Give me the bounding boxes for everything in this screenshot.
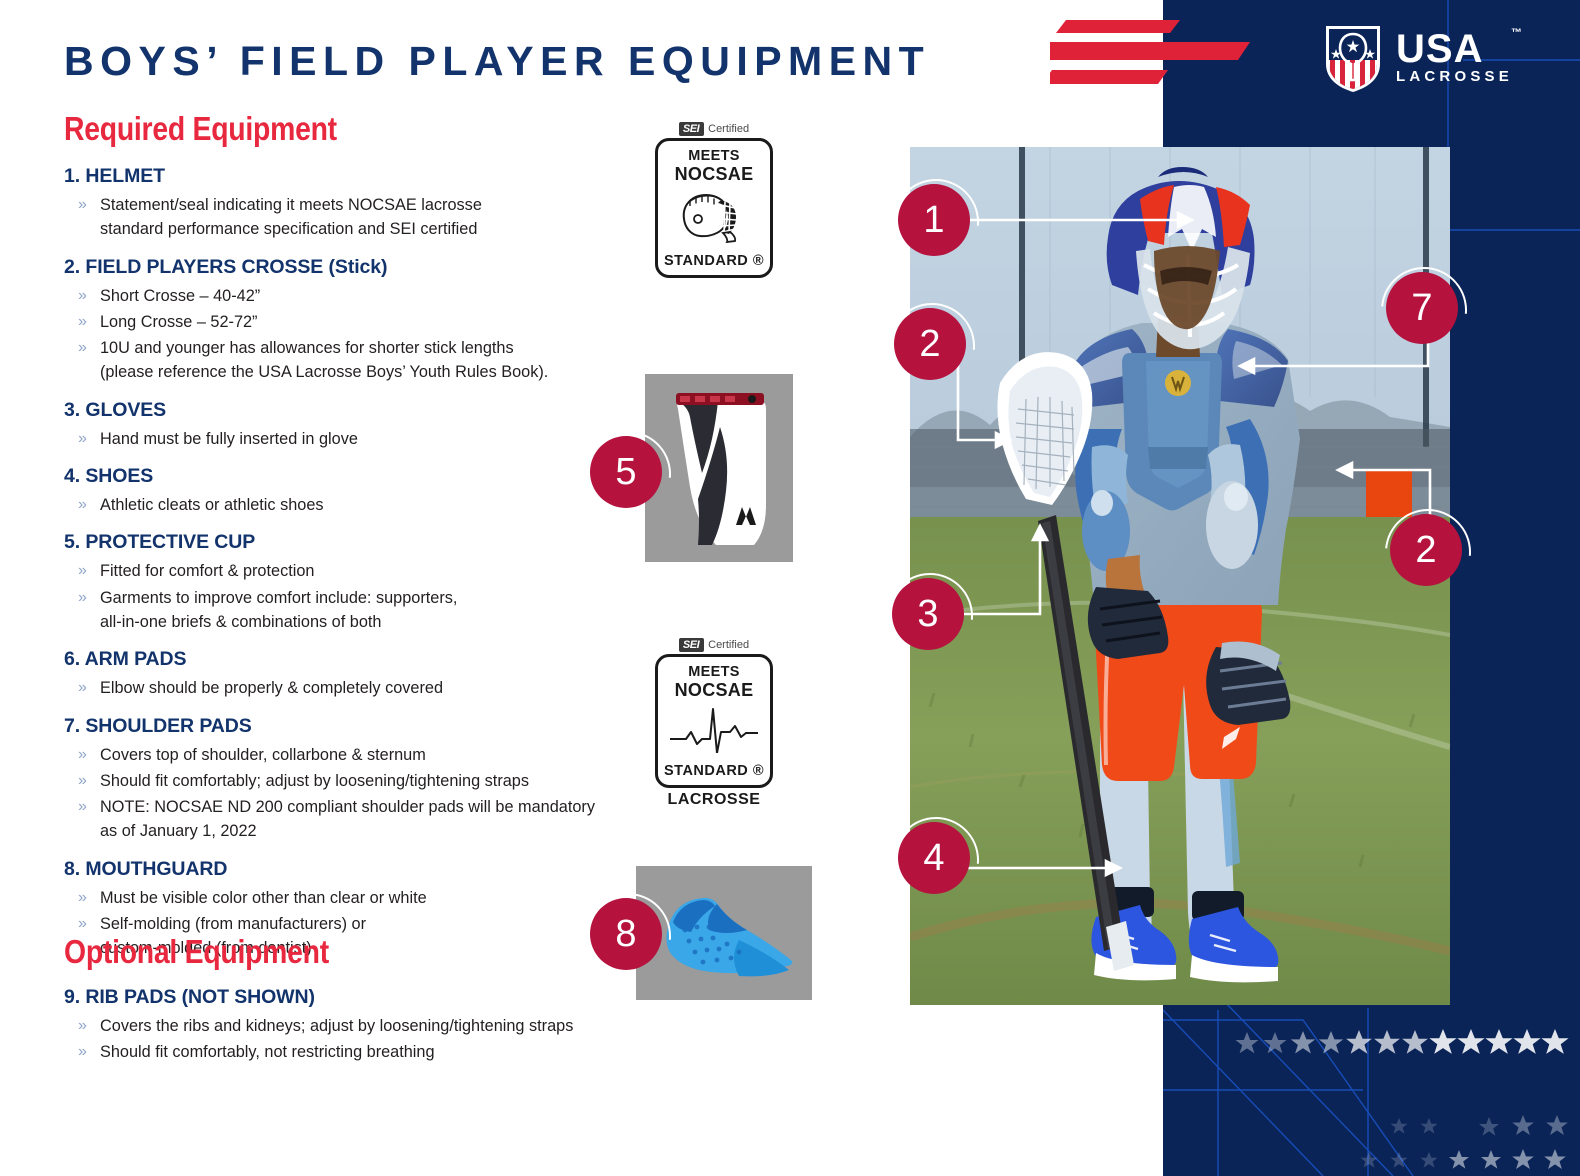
double-chevron-icon: » bbox=[78, 886, 87, 910]
seal-ekg-icon bbox=[668, 705, 760, 758]
equipment-bullet-list: »Short Crosse – 40-42”»Long Crosse – 52-… bbox=[64, 284, 644, 385]
optional-equipment-heading: Optional Equipment bbox=[64, 933, 329, 971]
equipment-bullet: »NOTE: NOCSAE ND 200 compliant shoulder … bbox=[100, 795, 644, 844]
bullet-text: Self-molding (from manufacturers) or bbox=[100, 915, 366, 933]
double-chevron-icon: » bbox=[78, 427, 87, 451]
bullet-text: Must be visible color other than clear o… bbox=[100, 889, 427, 907]
equipment-bullet: »Hand must be fully inserted in glove bbox=[100, 427, 644, 451]
callout-badge-3[interactable]: 3 bbox=[892, 578, 964, 650]
page-title: BOYS’ FIELD PLAYER EQUIPMENT bbox=[64, 38, 930, 85]
equipment-item-title: 8. MOUTHGUARD bbox=[64, 858, 644, 881]
logo-usa-text: USA™ bbox=[1396, 30, 1513, 68]
callout-badge-2-arm[interactable]: 2 bbox=[1390, 514, 1462, 586]
equipment-bullet: »Should fit comfortably; adjust by loose… bbox=[100, 769, 644, 793]
seal-sublabel: LACROSSE bbox=[668, 791, 761, 809]
double-chevron-icon: » bbox=[78, 743, 87, 767]
equipment-bullet: »Covers the ribs and kidneys; adjust by … bbox=[100, 1014, 644, 1038]
usa-lacrosse-shield-icon bbox=[1322, 22, 1384, 94]
bullet-text: Covers the ribs and kidneys; adjust by l… bbox=[100, 1017, 573, 1035]
seal-standard-label: STANDARD ® bbox=[664, 253, 764, 269]
callout-badge-2-crosse[interactable]: 2 bbox=[894, 308, 966, 380]
equipment-bullet-list: »Athletic cleats or athletic shoes bbox=[64, 493, 644, 517]
bullet-text-continued: as of January 1, 2022 bbox=[100, 819, 644, 843]
equipment-bullet: »Statement/seal indicating it meets NOCS… bbox=[100, 193, 644, 242]
equipment-item-title: 9. RIB PADS (NOT SHOWN) bbox=[64, 986, 644, 1009]
double-chevron-icon: » bbox=[78, 769, 87, 793]
bullet-text-continued: (please reference the USA Lacrosse Boys’… bbox=[100, 360, 644, 384]
double-chevron-icon: » bbox=[78, 284, 87, 308]
equipment-item-title: 4. SHOES bbox=[64, 465, 644, 488]
equipment-bullet-list: »Hand must be fully inserted in glove bbox=[64, 427, 644, 451]
seal-meets-label: MEETS bbox=[688, 664, 739, 680]
sei-certified-mark: SEI Certified bbox=[679, 122, 749, 136]
equipment-item-title: 1. HELMET bbox=[64, 165, 644, 188]
equipment-item-title: 3. GLOVES bbox=[64, 399, 644, 422]
equipment-bullet: »Long Crosse – 52-72” bbox=[100, 310, 644, 334]
bullet-text: Short Crosse – 40-42” bbox=[100, 287, 260, 305]
equipment-bullet: »Athletic cleats or athletic shoes bbox=[100, 493, 644, 517]
equipment-bullet-list: »Covers the ribs and kidneys; adjust by … bbox=[64, 1014, 644, 1065]
equipment-bullet: »Fitted for comfort & protection bbox=[100, 559, 644, 583]
seal-nocsae-label: NOCSAE bbox=[675, 164, 754, 185]
equipment-item-title: 7. SHOULDER PADS bbox=[64, 715, 644, 738]
equipment-item: 7. SHOULDER PADS»Covers top of shoulder,… bbox=[64, 715, 644, 844]
equipment-item-title: 5. PROTECTIVE CUP bbox=[64, 531, 644, 554]
sei-certified-mark: SEI Certified bbox=[679, 638, 749, 652]
required-equipment-heading: Required Equipment bbox=[64, 110, 337, 148]
seal-helmet-icon bbox=[676, 189, 752, 248]
red-stripe-graphic bbox=[1050, 8, 1320, 98]
bullet-text-continued: all-in-one briefs & combinations of both bbox=[100, 610, 644, 634]
trademark-mark: ™ bbox=[1511, 28, 1523, 38]
equipment-item: 3. GLOVES»Hand must be fully inserted in… bbox=[64, 399, 644, 451]
sei-certified-label: Certified bbox=[708, 123, 749, 135]
double-chevron-icon: » bbox=[78, 1014, 87, 1038]
equipment-item: 5. PROTECTIVE CUP»Fitted for comfort & p… bbox=[64, 531, 644, 634]
bullet-text-continued: standard performance specification and S… bbox=[100, 217, 644, 241]
nocsae-helmet-seal: SEI Certified MEETS NOCSAE STANDARD ® bbox=[655, 122, 773, 278]
equipment-item: 2. FIELD PLAYERS CROSSE (Stick)»Short Cr… bbox=[64, 256, 644, 385]
equipment-item: 6. ARM PADS»Elbow should be properly & c… bbox=[64, 648, 644, 700]
seal-box: MEETS NOCSAE STANDARD ® bbox=[655, 138, 773, 278]
double-chevron-icon: » bbox=[78, 559, 87, 583]
bullet-text: Fitted for comfort & protection bbox=[100, 562, 314, 580]
equipment-bullet-list: »Statement/seal indicating it meets NOCS… bbox=[64, 193, 644, 242]
double-chevron-icon: » bbox=[78, 193, 87, 217]
nocsae-lacrosse-seal: SEI Certified MEETS NOCSAE STANDARD ® LA… bbox=[655, 638, 773, 809]
usa-lacrosse-logo: USA™ LACROSSE bbox=[1322, 22, 1513, 94]
bullet-text: Covers top of shoulder, collarbone & ste… bbox=[100, 746, 426, 764]
bullet-text: 10U and younger has allowances for short… bbox=[100, 339, 514, 357]
seal-meets-label: MEETS bbox=[688, 148, 739, 164]
equipment-bullet: »Covers top of shoulder, collarbone & st… bbox=[100, 743, 644, 767]
equipment-item-title: 6. ARM PADS bbox=[64, 648, 644, 671]
equipment-bullet-list: »Fitted for comfort & protection»Garment… bbox=[64, 559, 644, 634]
seal-box: MEETS NOCSAE STANDARD ® bbox=[655, 654, 773, 788]
double-chevron-icon: » bbox=[78, 493, 87, 517]
equipment-bullet-list: »Covers top of shoulder, collarbone & st… bbox=[64, 743, 644, 844]
bullet-text: Should fit comfortably; adjust by loosen… bbox=[100, 772, 529, 790]
equipment-item: 9. RIB PADS (NOT SHOWN)»Covers the ribs … bbox=[64, 986, 644, 1065]
bullet-text: Garments to improve comfort include: sup… bbox=[100, 589, 457, 607]
bullet-text: Athletic cleats or athletic shoes bbox=[100, 496, 324, 514]
equipment-bullet: »10U and younger has allowances for shor… bbox=[100, 336, 644, 385]
bullet-text: NOTE: NOCSAE ND 200 compliant shoulder p… bbox=[100, 798, 595, 816]
sei-certified-label: Certified bbox=[708, 639, 749, 651]
double-chevron-icon: » bbox=[78, 586, 87, 610]
logo-lacrosse-text: LACROSSE bbox=[1396, 69, 1513, 86]
sei-logo-icon: SEI bbox=[679, 122, 704, 136]
callout-badge-5[interactable]: 5 bbox=[590, 436, 662, 508]
seal-standard-label: STANDARD ® bbox=[664, 763, 764, 779]
bullet-text: Hand must be fully inserted in glove bbox=[100, 430, 358, 448]
double-chevron-icon: » bbox=[78, 1040, 87, 1064]
equipment-bullet: »Garments to improve comfort include: su… bbox=[100, 586, 644, 635]
equipment-bullet: »Must be visible color other than clear … bbox=[100, 886, 644, 910]
double-chevron-icon: » bbox=[78, 336, 87, 360]
compression-short-graphic bbox=[664, 379, 774, 557]
callout-badge-7[interactable]: 7 bbox=[1386, 272, 1458, 344]
equipment-bullet: »Short Crosse – 40-42” bbox=[100, 284, 644, 308]
bullet-text: Long Crosse – 52-72” bbox=[100, 313, 257, 331]
equipment-item: 1. HELMET»Statement/seal indicating it m… bbox=[64, 165, 644, 242]
equipment-bullet: »Should fit comfortably, not restricting… bbox=[100, 1040, 644, 1064]
double-chevron-icon: » bbox=[78, 676, 87, 700]
sei-logo-icon: SEI bbox=[679, 638, 704, 652]
seal-nocsae-label: NOCSAE bbox=[675, 680, 754, 701]
equipment-bullet: »Elbow should be properly & completely c… bbox=[100, 676, 644, 700]
bullet-text: Should fit comfortably, not restricting … bbox=[100, 1043, 435, 1061]
equipment-item: 4. SHOES»Athletic cleats or athletic sho… bbox=[64, 465, 644, 517]
optional-equipment-list: 9. RIB PADS (NOT SHOWN)»Covers the ribs … bbox=[64, 986, 644, 1067]
required-equipment-list: 1. HELMET»Statement/seal indicating it m… bbox=[64, 165, 644, 963]
equipment-bullet-list: »Elbow should be properly & completely c… bbox=[64, 676, 644, 700]
double-chevron-icon: » bbox=[78, 310, 87, 334]
callout-badge-8[interactable]: 8 bbox=[590, 898, 662, 970]
equipment-item-title: 2. FIELD PLAYERS CROSSE (Stick) bbox=[64, 256, 644, 279]
callout-badge-4[interactable]: 4 bbox=[898, 822, 970, 894]
double-chevron-icon: » bbox=[78, 795, 87, 819]
callout-badge-1[interactable]: 1 bbox=[898, 184, 970, 256]
bullet-text: Statement/seal indicating it meets NOCSA… bbox=[100, 196, 482, 214]
bullet-text: Elbow should be properly & completely co… bbox=[100, 679, 443, 697]
